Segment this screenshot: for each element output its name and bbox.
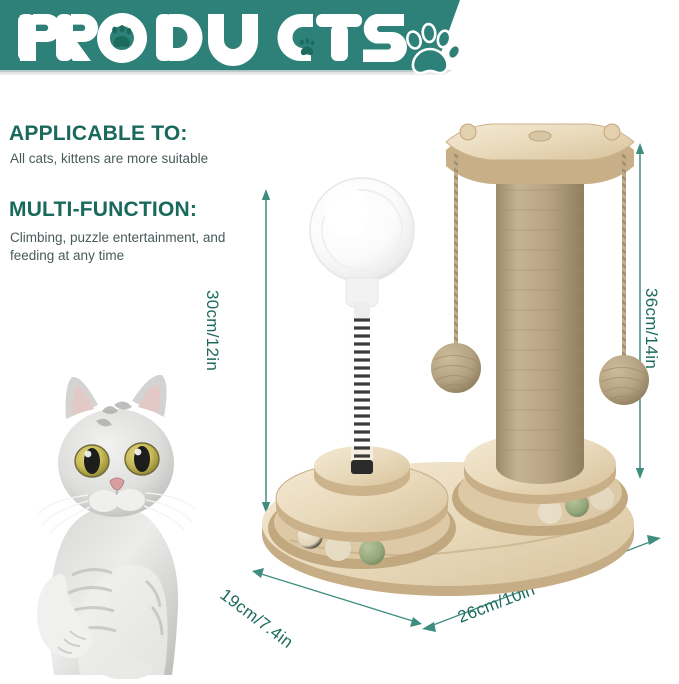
multi-function-body: Climbing, puzzle entertainment, and feed… <box>10 229 245 265</box>
glass-feeder-ball <box>310 178 414 318</box>
cat-standing-paw <box>100 658 152 679</box>
dimension-label-height-30: 30cm/12in <box>202 290 222 371</box>
coil-spring <box>351 316 373 474</box>
page-title: PRODUCT SIZE <box>16 9 416 67</box>
applicable-to-body: All cats, kittens are more suitable <box>10 150 260 168</box>
paw-print-icon <box>404 20 460 80</box>
hanging-sisal-ball-right <box>599 154 649 405</box>
top-platform <box>446 124 634 184</box>
sisal-scratching-post <box>496 147 584 484</box>
cat-head <box>38 375 196 533</box>
multi-function-heading: MULTI-FUNCTION: <box>9 198 197 222</box>
header-banner: PRODUCT SIZE <box>0 0 679 76</box>
product-photo-cat-tower <box>250 120 679 640</box>
hanging-sisal-ball-left <box>431 154 481 393</box>
applicable-to-heading: APPLICABLE TO: <box>9 122 188 146</box>
cat-photo <box>18 375 218 679</box>
banner-shadow <box>0 70 452 75</box>
